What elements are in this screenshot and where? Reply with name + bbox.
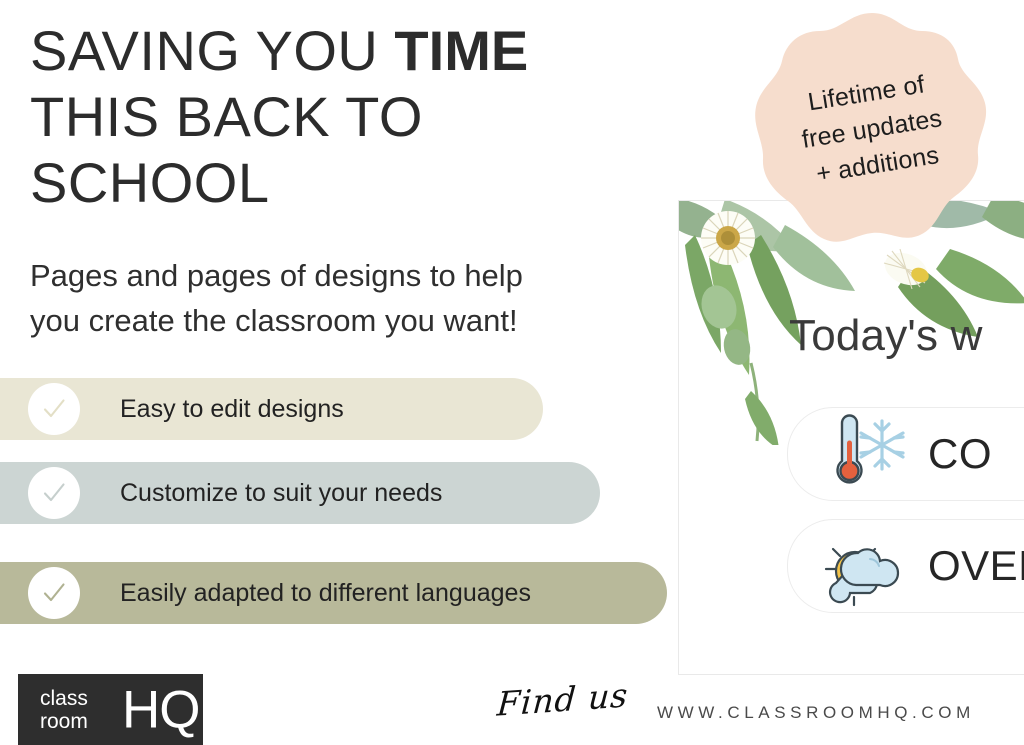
check-circle [28, 467, 80, 519]
headline-line-2: THIS BACK TO [30, 84, 670, 150]
check-icon [39, 578, 69, 608]
status-badge: Lifetime of free updates + additions [752, 9, 992, 249]
weather-label: CO [928, 430, 992, 478]
logo-word-bottom: room [40, 710, 88, 733]
feature-pill-languages: Easily adapted to different languages [0, 562, 667, 624]
weather-preview-card: Today's w CO [678, 200, 1024, 675]
weather-row-cold[interactable]: CO [787, 407, 1024, 501]
feature-label: Easy to edit designs [120, 395, 344, 424]
badge-text: Lifetime of free updates + additions [735, 0, 1010, 266]
check-circle [28, 567, 80, 619]
headline-emphasis: TIME [394, 19, 528, 82]
check-icon [39, 478, 69, 508]
check-circle [28, 383, 80, 435]
feature-label: Easily adapted to different languages [120, 579, 531, 608]
check-icon [39, 394, 69, 424]
subheading-line-2: you create the classroom you want! [30, 298, 630, 343]
card-title: Today's w [789, 311, 983, 361]
brand-logo[interactable]: class room HQ [18, 674, 203, 745]
sun-cloud-icon [818, 525, 910, 607]
weather-label: OVER [928, 542, 1024, 590]
feature-pill-customize: Customize to suit your needs [0, 462, 600, 524]
subheading: Pages and pages of designs to help you c… [30, 253, 630, 343]
slide-canvas: SAVING YOU TIME THIS BACK TO SCHOOL Page… [0, 0, 1024, 745]
logo-word-top: class [40, 687, 88, 710]
thermometer-snowflake-icon [818, 413, 910, 495]
weather-row-overcast[interactable]: OVER [787, 519, 1024, 613]
logo-wordmark: class room [40, 687, 88, 733]
logo-mark-hq: HQ [122, 683, 200, 736]
headline-text-pre: SAVING YOU [30, 19, 394, 82]
find-us-script-text: Find us [496, 675, 630, 723]
feature-label: Customize to suit your needs [120, 479, 442, 508]
headline-line-3: SCHOOL [30, 150, 670, 216]
website-url[interactable]: WWW.CLASSROOMHQ.COM [657, 703, 975, 723]
headline-line-1: SAVING YOU TIME [30, 18, 670, 84]
page-title: SAVING YOU TIME THIS BACK TO SCHOOL [30, 18, 670, 216]
subheading-line-1: Pages and pages of designs to help [30, 253, 630, 298]
feature-pill-easy-to-edit: Easy to edit designs [0, 378, 543, 440]
